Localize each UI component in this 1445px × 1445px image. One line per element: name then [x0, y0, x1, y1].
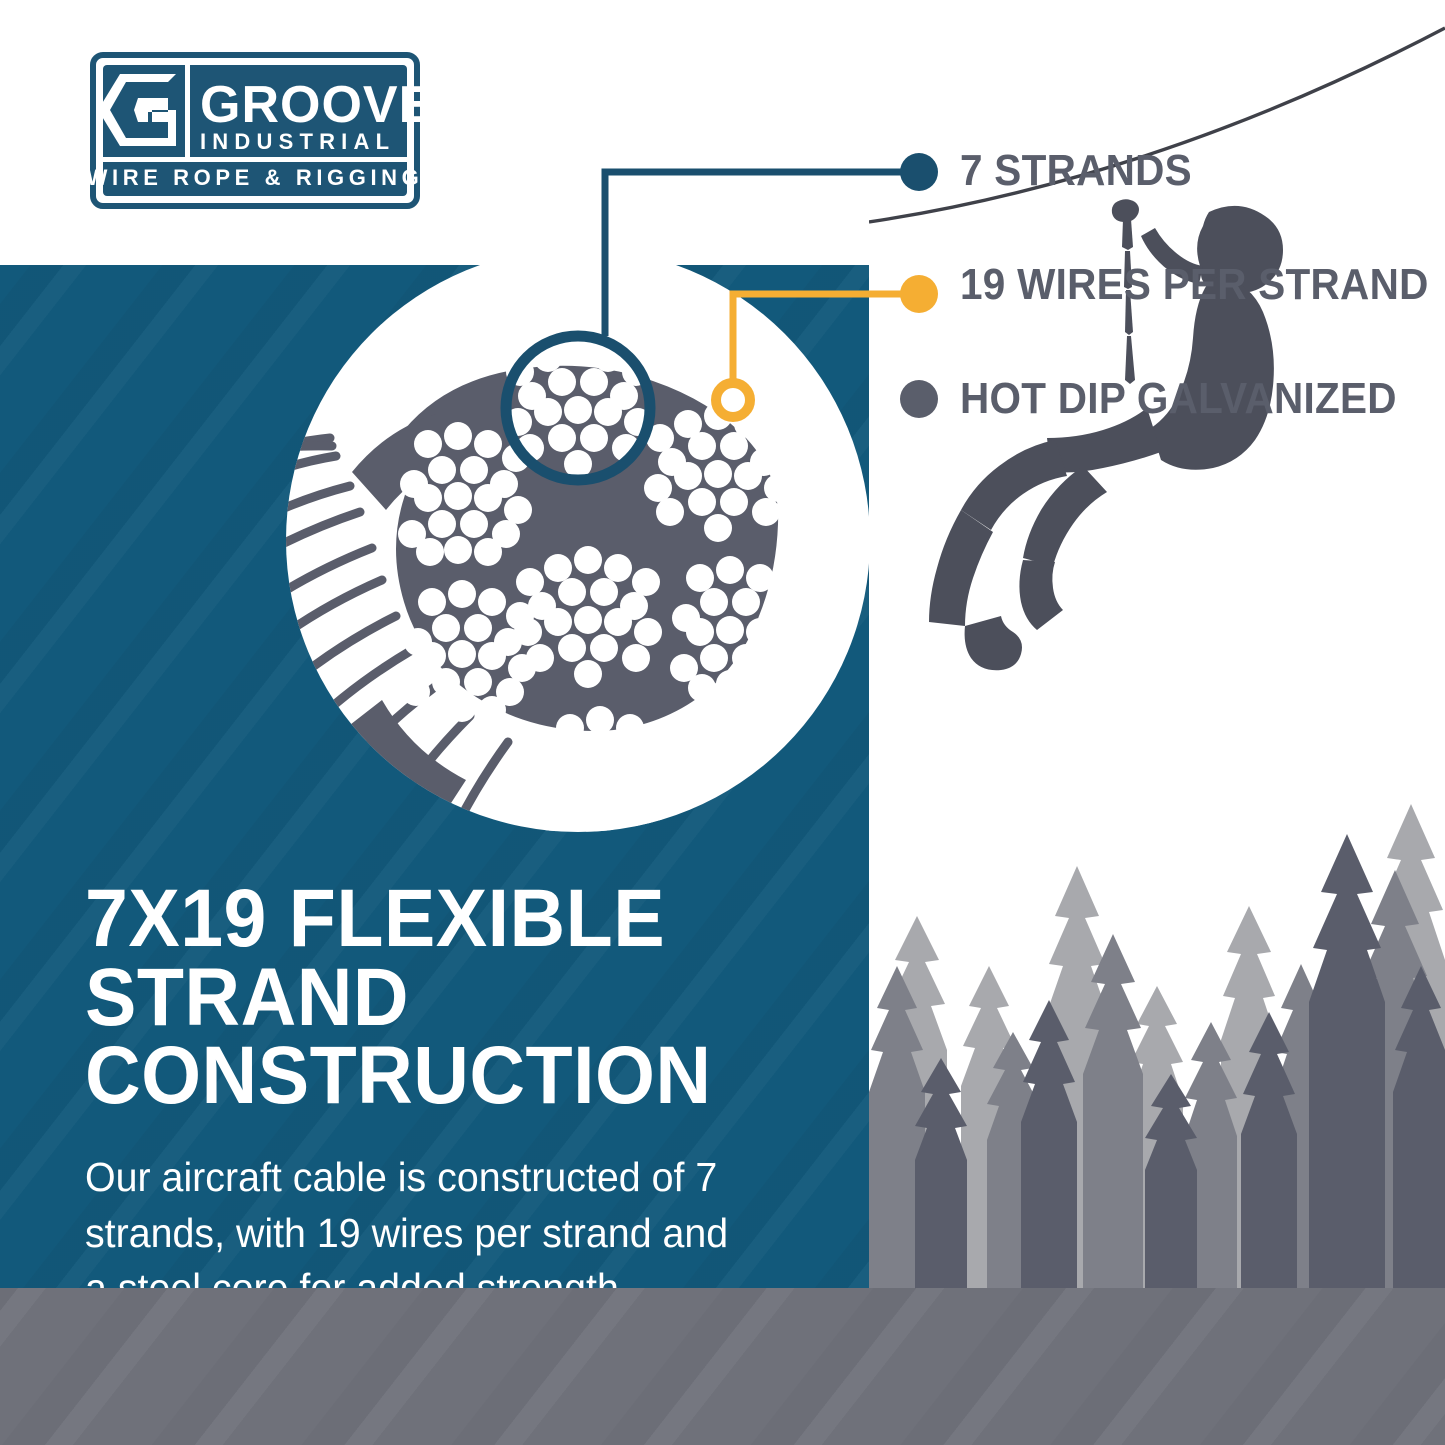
infographic-canvas: GROOVE INDUSTRIAL WIRE ROPE & RIGGING 7 …	[0, 0, 1445, 1445]
headline-block: 7X19 FLEXIBLE STRAND CONSTRUCTION Our ai…	[85, 880, 845, 1316]
callout-label-wires: 19 WIRES PER STRAND	[960, 260, 1429, 310]
headline-line-1: 7X19 FLEXIBLE	[85, 880, 799, 959]
callout-item-strands: 7 STRANDS	[900, 140, 1445, 202]
bottom-gray-band	[0, 1288, 1445, 1445]
callout-label-galvanized: HOT DIP GALVANIZED	[960, 374, 1397, 424]
logo-wordmark: GROOVE	[200, 76, 420, 134]
brand-logo-svg: GROOVE INDUSTRIAL WIRE ROPE & RIGGING	[90, 52, 420, 209]
headline-line-2: STRAND CONSTRUCTION	[85, 959, 799, 1116]
callout-bullet-gray-icon	[900, 380, 938, 418]
callout-item-galvanized: HOT DIP GALVANIZED	[900, 368, 1445, 430]
logo-tagline: WIRE ROPE & RIGGING	[90, 165, 420, 190]
logo-divider-vertical	[185, 65, 190, 157]
callout-label-strands: 7 STRANDS	[960, 146, 1192, 196]
logo-subname: INDUSTRIAL	[200, 129, 395, 154]
brand-logo[interactable]: GROOVE INDUSTRIAL WIRE ROPE & RIGGING	[90, 52, 420, 209]
band-stripe-texture	[0, 1288, 1445, 1445]
callout-list: 7 STRANDS 19 WIRES PER STRAND HOT DIP GA…	[900, 140, 1445, 482]
logo-divider-horizontal	[103, 157, 407, 162]
callout-item-wires: 19 WIRES PER STRAND	[900, 254, 1445, 316]
